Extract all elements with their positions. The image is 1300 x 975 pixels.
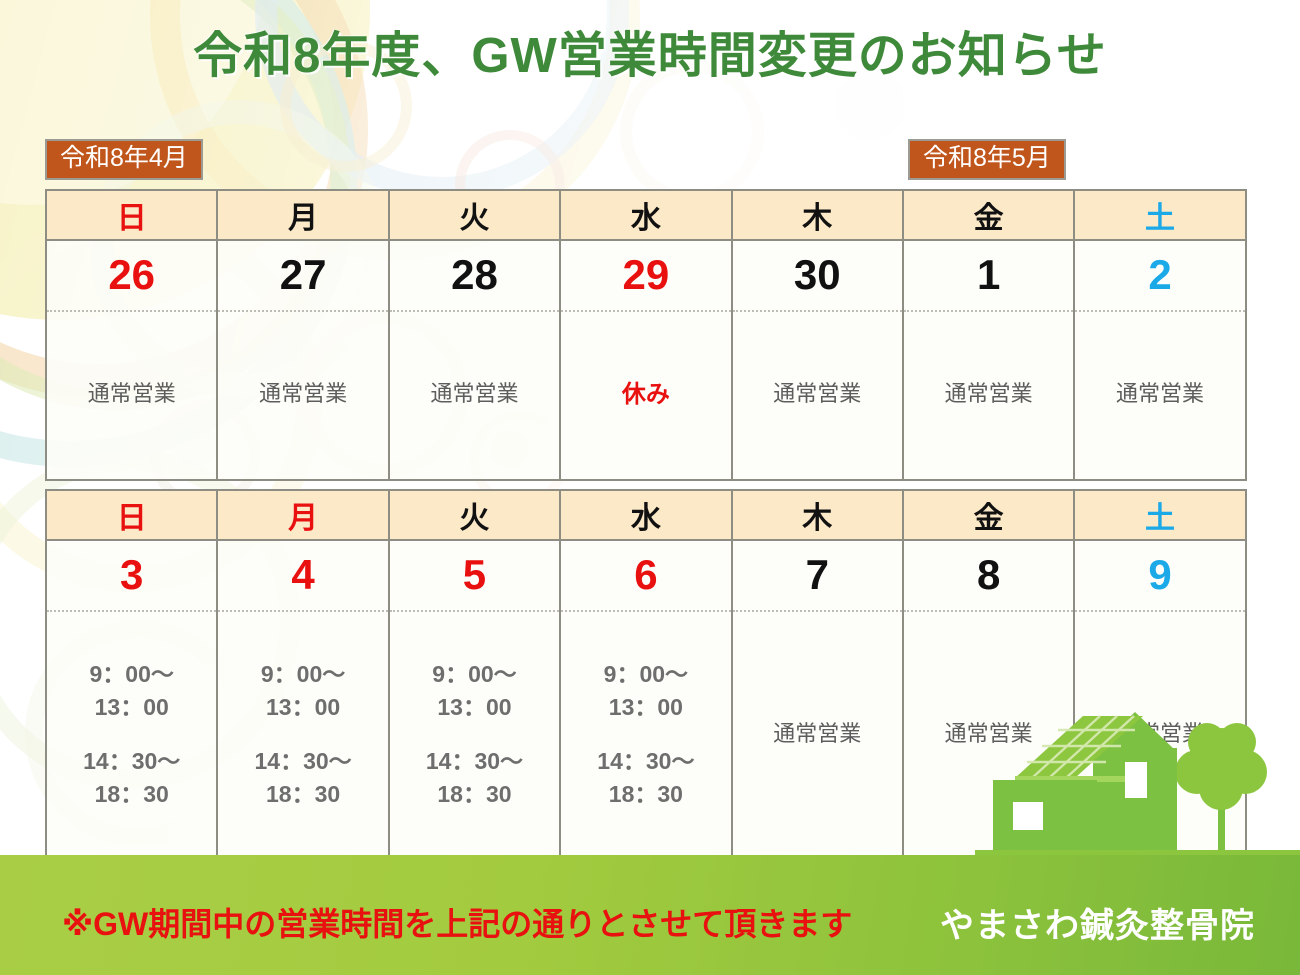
- day-status: 通常営業: [945, 380, 1033, 409]
- afternoon-end: 18：30: [597, 778, 694, 811]
- weekday-header-thu: 木: [732, 490, 903, 540]
- weekday-header-wed: 水: [560, 490, 731, 540]
- calendar-cell: 27 通常営業: [217, 240, 388, 480]
- day-number: 5: [390, 541, 559, 612]
- weekday-label: 金: [974, 502, 1004, 535]
- day-number: 4: [218, 541, 387, 612]
- weekday-label: 木: [802, 202, 832, 235]
- day-body: 通常営業: [733, 612, 902, 857]
- weekday-label: 土: [1145, 202, 1175, 235]
- weekday-header-mon: 月: [217, 190, 388, 240]
- day-body: 休み: [561, 312, 730, 477]
- banner-note: ※GW期間中の営業時間を上記の通りとさせて頂きます: [62, 899, 852, 945]
- calendar-cell: 28 通常営業: [389, 240, 560, 480]
- day-status: 通常営業: [259, 380, 347, 409]
- weekday-header-row-1: 日 月 火 水 木 金 土: [46, 190, 1246, 240]
- day-body: 通常営業: [218, 312, 387, 477]
- weekday-header-sat: 土: [1074, 190, 1245, 240]
- day-hours: 9：00〜 13：00 14：30〜 18：30: [597, 658, 694, 811]
- clinic-name: やまさわ鍼灸整骨院: [940, 898, 1255, 947]
- calendar-day-row-2: 3 9：00〜 13：00 14：30〜 18：30 4: [46, 540, 1246, 860]
- day-hours: 9：00〜 13：00 14：30〜 18：30: [255, 658, 352, 811]
- day-number: 26: [47, 241, 216, 312]
- calendar-cell: 5 9：00〜 13：00 14：30〜 18：30: [389, 540, 560, 860]
- month-badge-may: 令和8年5月: [908, 139, 1066, 180]
- weekday-label: 木: [802, 502, 832, 535]
- day-status: 通常営業: [430, 380, 518, 409]
- day-number: 27: [218, 241, 387, 312]
- weekday-label: 月: [288, 202, 318, 235]
- day-status: 通常営業: [773, 380, 861, 409]
- afternoon-end: 18：30: [426, 778, 523, 811]
- afternoon-start: 14：30〜: [597, 745, 694, 778]
- weekday-header-tue: 火: [389, 490, 560, 540]
- day-number: 7: [733, 541, 902, 612]
- calendar-cell: 30 通常営業: [732, 240, 903, 480]
- day-number: 2: [1075, 241, 1244, 312]
- weekday-label: 金: [974, 202, 1004, 235]
- calendar-week-2: 日 月 火 水 木 金 土: [45, 489, 1247, 861]
- calendar-cell: 3 9：00〜 13：00 14：30〜 18：30: [46, 540, 217, 860]
- weekday-header-fri: 金: [903, 190, 1074, 240]
- day-body: 通常営業: [904, 612, 1073, 857]
- afternoon-start: 14：30〜: [83, 745, 180, 778]
- calendar-cell: 9 通常営業: [1074, 540, 1245, 860]
- day-hours: 9：00〜 13：00 14：30〜 18：30: [426, 658, 523, 811]
- day-status: 通常営業: [1116, 720, 1204, 749]
- calendar-day-row-1: 26 通常営業 27 通常営業 28 通常営業: [46, 240, 1246, 480]
- day-body: 通常営業: [390, 312, 559, 477]
- calendar-cell: 7 通常営業: [732, 540, 903, 860]
- morning-start: 9：00〜: [83, 658, 180, 691]
- weekday-header-row-2: 日 月 火 水 木 金 土: [46, 490, 1246, 540]
- weekday-label: 火: [459, 202, 489, 235]
- day-body: 9：00〜 13：00 14：30〜 18：30: [218, 612, 387, 857]
- day-status-closed: 休み: [622, 379, 670, 410]
- weekday-label: 水: [631, 502, 661, 535]
- day-number: 3: [47, 541, 216, 612]
- afternoon-start: 14：30〜: [255, 745, 352, 778]
- day-number: 6: [561, 541, 730, 612]
- morning-end: 13：00: [83, 691, 180, 724]
- month-badge-april: 令和8年4月: [45, 139, 203, 180]
- morning-end: 13：00: [597, 691, 694, 724]
- calendar-cell: 6 9：00〜 13：00 14：30〜 18：30: [560, 540, 731, 860]
- calendar-cell: 2 通常営業: [1074, 240, 1245, 480]
- calendar-cell: 1 通常営業: [903, 240, 1074, 480]
- day-number: 1: [904, 241, 1073, 312]
- afternoon-end: 18：30: [83, 778, 180, 811]
- day-status: 通常営業: [945, 720, 1033, 749]
- afternoon-start: 14：30〜: [426, 745, 523, 778]
- morning-end: 13：00: [255, 691, 352, 724]
- weekday-label: 火: [459, 502, 489, 535]
- weekday-label: 水: [631, 202, 661, 235]
- weekday-header-fri: 金: [903, 490, 1074, 540]
- morning-end: 13：00: [426, 691, 523, 724]
- day-body: 通常営業: [47, 312, 216, 477]
- day-body: 通常営業: [1075, 612, 1244, 857]
- morning-start: 9：00〜: [426, 658, 523, 691]
- weekday-header-sun: 日: [46, 490, 217, 540]
- weekday-label: 日: [117, 502, 147, 535]
- calendar-cell: 29 休み: [560, 240, 731, 480]
- day-number: 29: [561, 241, 730, 312]
- day-status: 通常営業: [88, 380, 176, 409]
- day-status: 通常営業: [773, 720, 861, 749]
- weekday-header-sat: 土: [1074, 490, 1245, 540]
- calendar-cell: 4 9：00〜 13：00 14：30〜 18：30: [217, 540, 388, 860]
- day-number: 9: [1075, 541, 1244, 612]
- calendar-cell: 26 通常営業: [46, 240, 217, 480]
- day-body: 通常営業: [733, 312, 902, 477]
- day-number: 30: [733, 241, 902, 312]
- weekday-header-tue: 火: [389, 190, 560, 240]
- day-body: 9：00〜 13：00 14：30〜 18：30: [390, 612, 559, 857]
- weekday-header-sun: 日: [46, 190, 217, 240]
- day-number: 8: [904, 541, 1073, 612]
- weekday-header-mon: 月: [217, 490, 388, 540]
- day-body: 通常営業: [904, 312, 1073, 477]
- weekday-header-thu: 木: [732, 190, 903, 240]
- day-hours: 9：00〜 13：00 14：30〜 18：30: [83, 658, 180, 811]
- morning-start: 9：00〜: [255, 658, 352, 691]
- weekday-label: 日: [117, 202, 147, 235]
- day-body: 9：00〜 13：00 14：30〜 18：30: [561, 612, 730, 857]
- weekday-header-wed: 水: [560, 190, 731, 240]
- day-body: 通常営業: [1075, 312, 1244, 477]
- poster-canvas: 令和8年度、GW営業時間変更のお知らせ 令和8年4月 令和8年5月 日 月 火 …: [0, 0, 1300, 975]
- calendar-cell: 8 通常営業: [903, 540, 1074, 860]
- morning-start: 9：00〜: [597, 658, 694, 691]
- calendar-week-1: 日 月 火 水 木 金 土: [45, 189, 1247, 481]
- day-body: 9：00〜 13：00 14：30〜 18：30: [47, 612, 216, 857]
- page-title: 令和8年度、GW営業時間変更のお知らせ: [0, 16, 1300, 87]
- day-number: 28: [390, 241, 559, 312]
- weekday-label: 月: [288, 502, 318, 535]
- day-status: 通常営業: [1116, 380, 1204, 409]
- afternoon-end: 18：30: [255, 778, 352, 811]
- weekday-label: 土: [1145, 502, 1175, 535]
